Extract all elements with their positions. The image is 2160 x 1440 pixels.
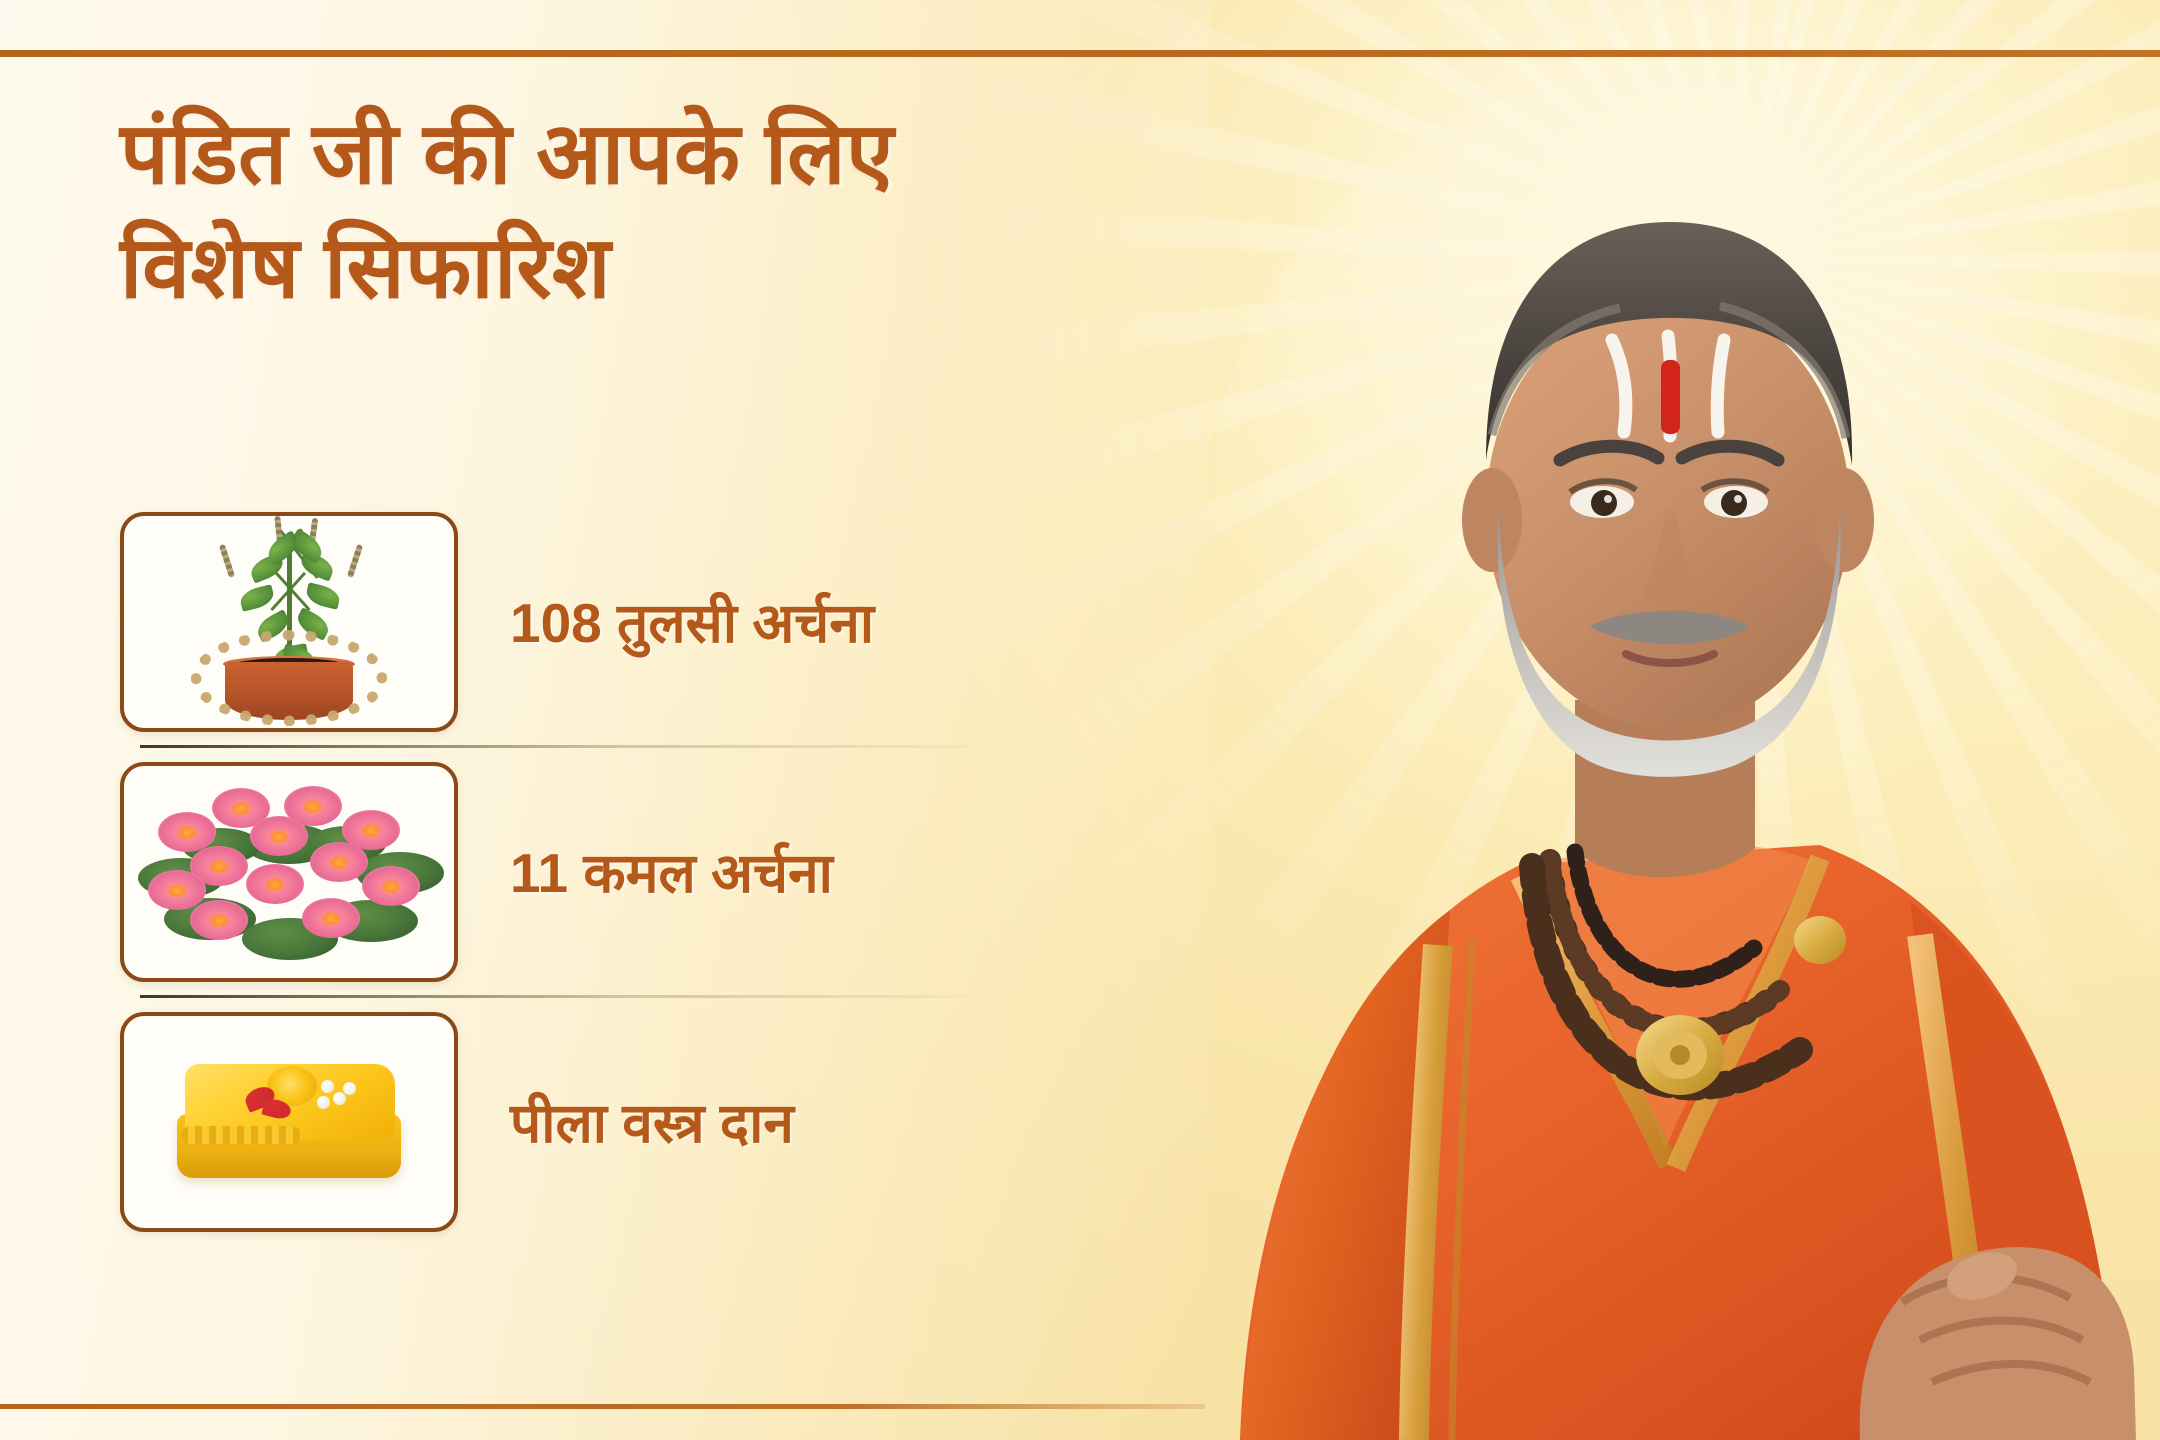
yellow-cloth-thumbnail [120, 1012, 458, 1232]
list-item[interactable]: पीला वस्त्र दान [120, 998, 1070, 1245]
banner-root: पंडित जी की आपके लिए विशेष सिफारिश [0, 0, 2160, 1440]
recommendation-list: 108 तुलसी अर्चना [120, 498, 1070, 1245]
list-item[interactable]: 108 तुलसी अर्चना [120, 498, 1070, 745]
tulsi-plant-thumbnail [120, 512, 458, 732]
lotus-flowers-icon [124, 766, 454, 978]
yellow-cloth-icon [124, 1016, 454, 1228]
list-item-label: पीला वस्त्र दान [510, 1084, 794, 1159]
lotus-flowers-thumbnail [120, 762, 458, 982]
top-divider-rule [0, 50, 2160, 57]
list-item-label: 11 कमल अर्चना [510, 834, 833, 909]
tulsi-plant-icon [124, 516, 454, 728]
list-item[interactable]: 11 कमल अर्चना [120, 748, 1070, 995]
page-title-line-2: विशेष सिफारिश [120, 212, 1270, 326]
page-title-line-1: पंडित जी की आपके लिए [120, 98, 1270, 212]
page-title: पंडित जी की आपके लिए विशेष सिफारिश [120, 98, 1270, 325]
list-item-label: 108 तुलसी अर्चना [510, 584, 874, 659]
bottom-divider-rule [0, 1404, 1205, 1409]
